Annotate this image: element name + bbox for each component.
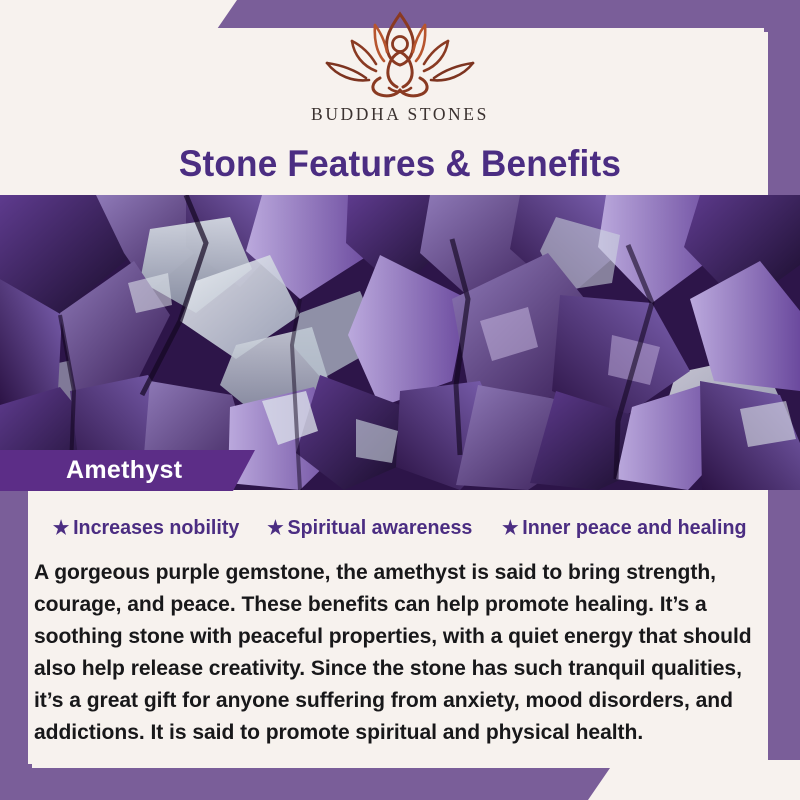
hero-image: [0, 195, 800, 490]
stone-info-poster: BUDDHA STONES Stone Features & Benefits: [0, 0, 800, 800]
benefit-label: Increases nobility: [73, 516, 239, 540]
benefit-item-2: ★ Spiritual awareness: [267, 516, 472, 540]
stone-name-text: Amethyst: [66, 456, 182, 485]
page-title: Stone Features & Benefits: [20, 143, 780, 185]
benefits-list: ★ Increases nobility ★ Spiritual awarene…: [0, 516, 800, 540]
brand-name: BUDDHA STONES: [311, 104, 489, 125]
benefit-item-1: ★ Increases nobility: [53, 516, 239, 540]
benefit-item-3: ★ Inner peace and healing: [502, 516, 746, 540]
star-icon: ★: [502, 519, 518, 538]
stone-name-badge: Amethyst: [0, 450, 255, 491]
benefit-label: Inner peace and healing: [522, 516, 746, 540]
star-icon: ★: [267, 519, 283, 538]
frame-band-bottom: [0, 768, 610, 800]
star-icon: ★: [53, 519, 69, 538]
lotus-meditation-figure-icon: [317, 8, 483, 102]
amethyst-cluster-illustration: [0, 195, 800, 490]
benefit-label: Spiritual awareness: [287, 516, 472, 540]
stone-description: A gorgeous purple gemstone, the amethyst…: [34, 556, 759, 748]
